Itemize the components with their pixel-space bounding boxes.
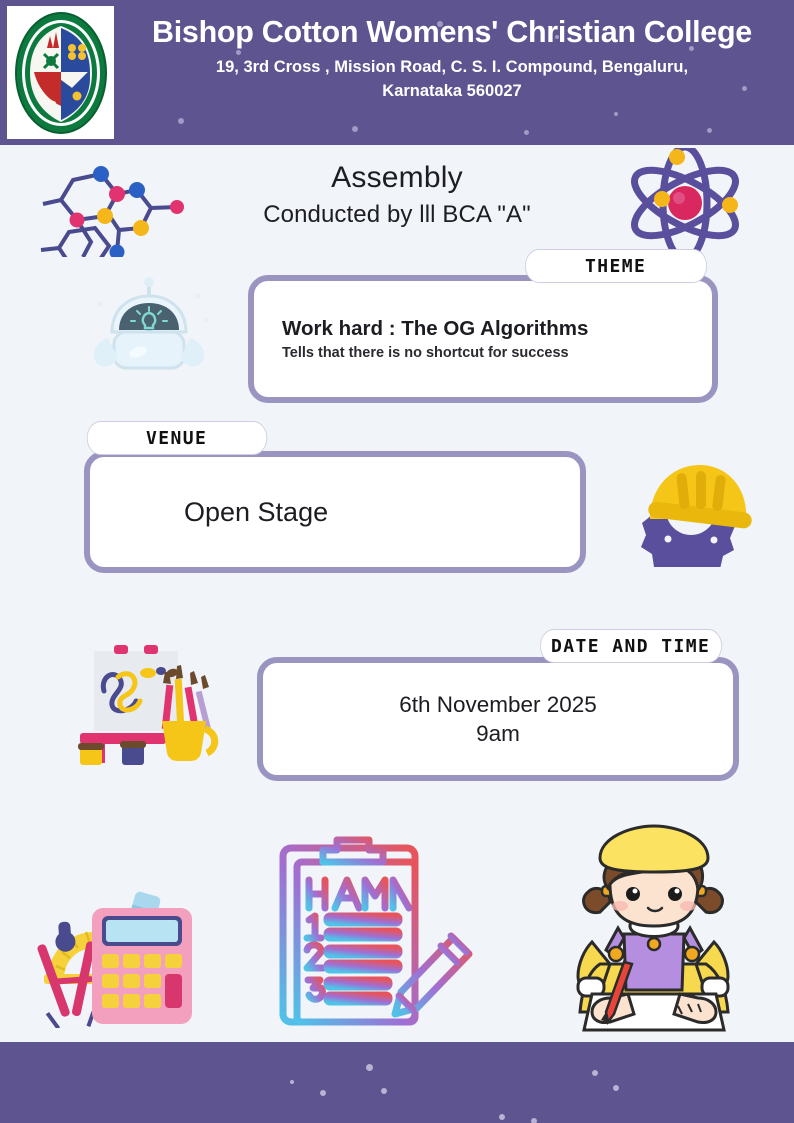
datetime-label-pill: DATE AND TIME [540,629,722,663]
decor-dot [614,112,618,116]
decor-dot [366,1064,373,1071]
decor-dot [320,1090,326,1096]
decor-dot [707,128,712,133]
decor-dot [381,1088,387,1094]
datetime-label: DATE AND TIME [551,636,710,657]
hardhat-gear-icon [622,447,762,567]
college-address-line2: Karnataka 560027 [118,80,786,104]
decor-dot [531,1118,537,1123]
datetime-card: 6th November 2025 9am [257,657,739,781]
theme-card: Work hard : The OG Algorithms Tells that… [248,275,718,403]
decor-dot [499,1114,505,1120]
decor-dot [352,126,358,132]
venue-label: VENUE [146,428,207,449]
event-date: 6th November 2025 [399,690,597,719]
poster-canvas: Bishop Cotton Womens' Christian College … [0,0,794,1123]
crest-icon [12,10,110,136]
college-logo [7,6,114,139]
poster-footer [0,1042,794,1123]
math-tools-icon [22,882,214,1028]
poster-header: Bishop Cotton Womens' Christian College … [0,0,794,145]
decor-dot [524,130,529,135]
decor-dot [178,118,184,124]
event-time: 9am [476,719,520,748]
robot-icon [78,276,220,378]
exam-clipboard-icon [265,828,495,1038]
venue-card: Open Stage [84,451,586,573]
venue-value: Open Stage [184,497,328,528]
college-address-line1: 19, 3rd Cross , Mission Road, C. S. I. C… [118,56,786,80]
decor-dot [613,1085,619,1091]
molecule-icon [33,152,193,257]
header-text-block: Bishop Cotton Womens' Christian College … [118,16,786,104]
art-easel-icon [62,633,222,773]
venue-label-pill: VENUE [87,421,267,455]
theme-heading: Work hard : The OG Algorithms [282,316,588,342]
atom-icon [618,148,753,258]
college-name: Bishop Cotton Womens' Christian College [118,16,786,49]
student-girl-icon [548,822,760,1044]
decor-dot [290,1080,294,1084]
decor-dot [592,1070,598,1076]
theme-label-pill: THEME [525,249,707,283]
theme-label: THEME [585,256,646,277]
theme-subtext: Tells that there is no shortcut for succ… [282,344,569,362]
